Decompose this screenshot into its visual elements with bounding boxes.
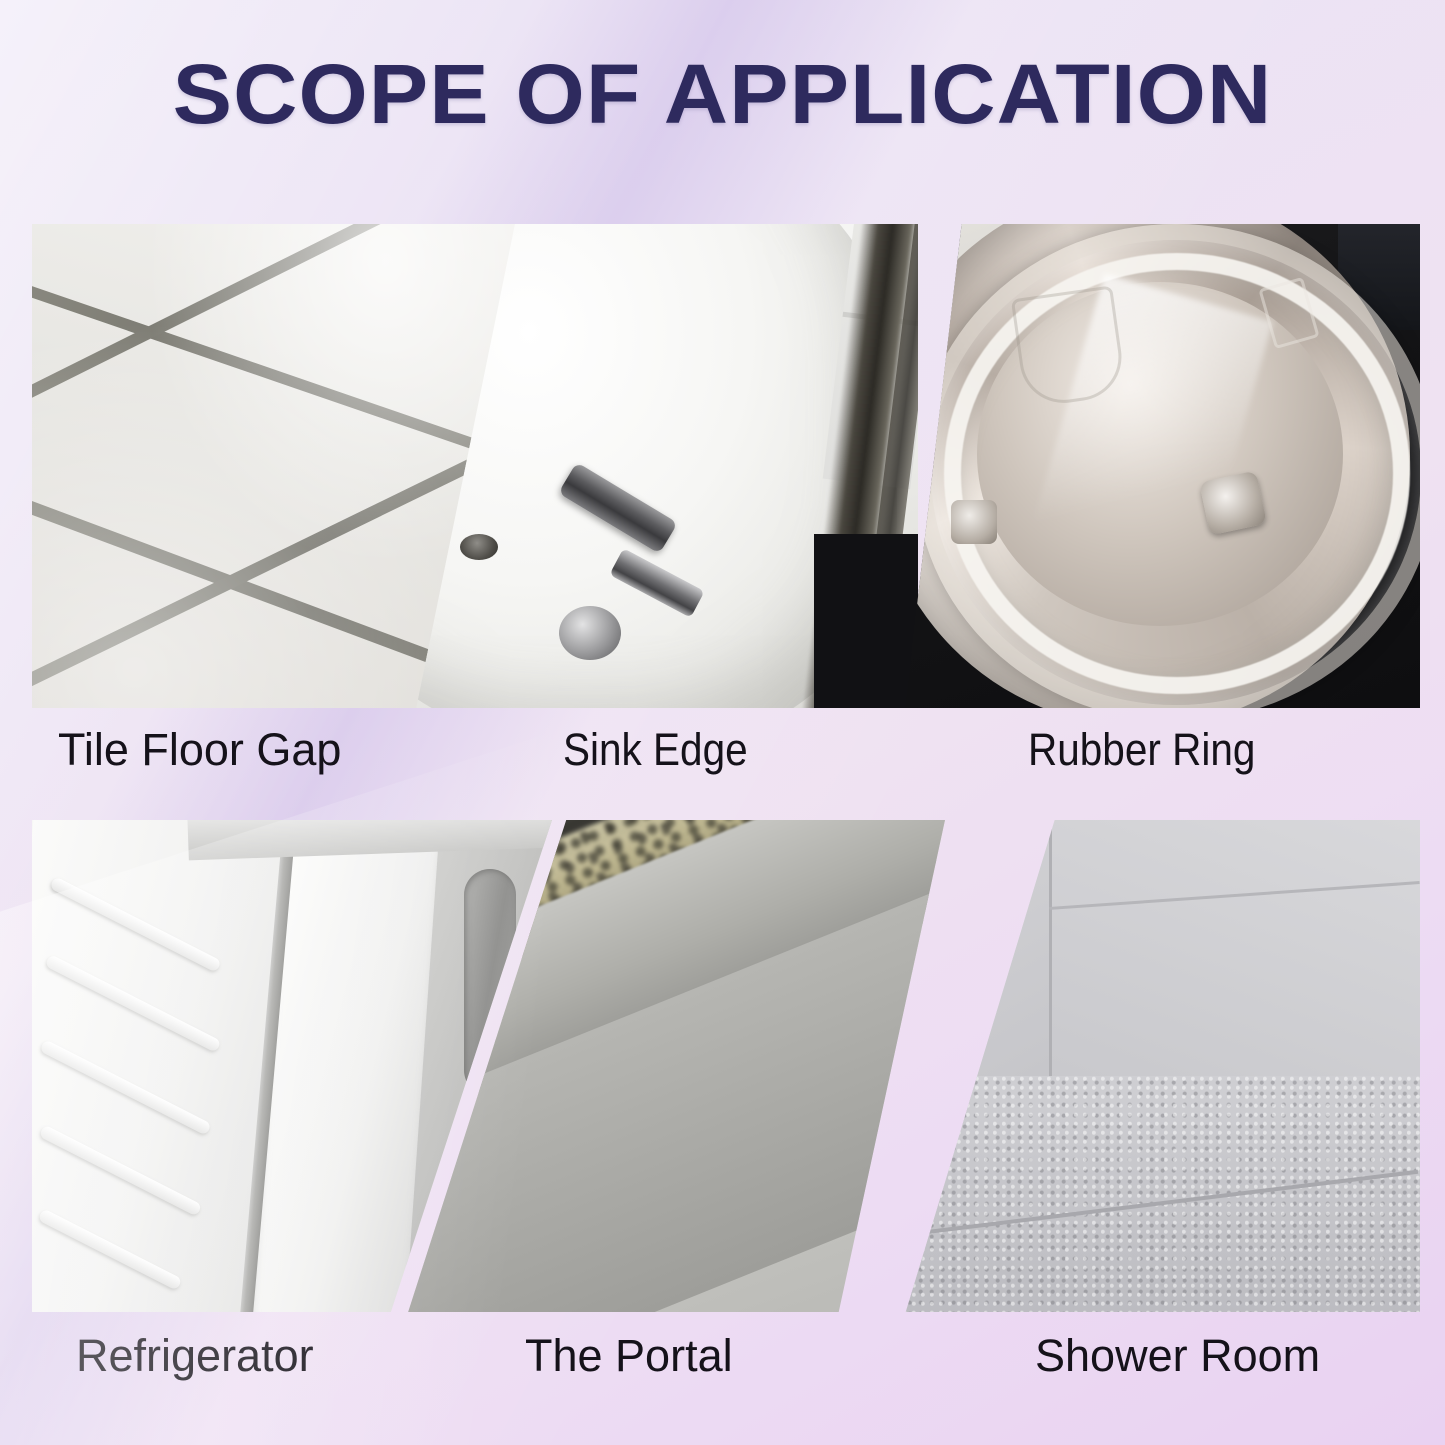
photo-row-bottom xyxy=(0,820,1445,1312)
overflow-hole xyxy=(460,534,498,560)
shower-wall-right xyxy=(1049,820,1420,1091)
photo-shower-room xyxy=(858,820,1420,1312)
caption-shower-room: Shower Room xyxy=(1035,1330,1320,1382)
caption-refrigerator: Refrigerator xyxy=(76,1330,314,1382)
panel-rubber-ring xyxy=(905,224,1420,708)
caption-rubber-ring: Rubber Ring xyxy=(1028,724,1255,776)
lid-valve xyxy=(951,500,997,544)
page-title: SCOPE OF APPLICATION xyxy=(0,46,1445,143)
caption-sink-edge: Sink Edge xyxy=(563,724,748,776)
lid-bolt xyxy=(1199,470,1267,535)
photo-row-top xyxy=(0,224,1445,708)
dark-background xyxy=(814,534,918,708)
wall-corner-seam xyxy=(1049,820,1052,1105)
photo-rubber-ring xyxy=(905,224,1420,708)
infographic-page: SCOPE OF APPLICATION xyxy=(0,0,1445,1445)
caption-the-portal: The Portal xyxy=(525,1330,733,1382)
caption-tile-floor-gap: Tile Floor Gap xyxy=(58,724,341,776)
panel-shower-room xyxy=(858,820,1420,1312)
